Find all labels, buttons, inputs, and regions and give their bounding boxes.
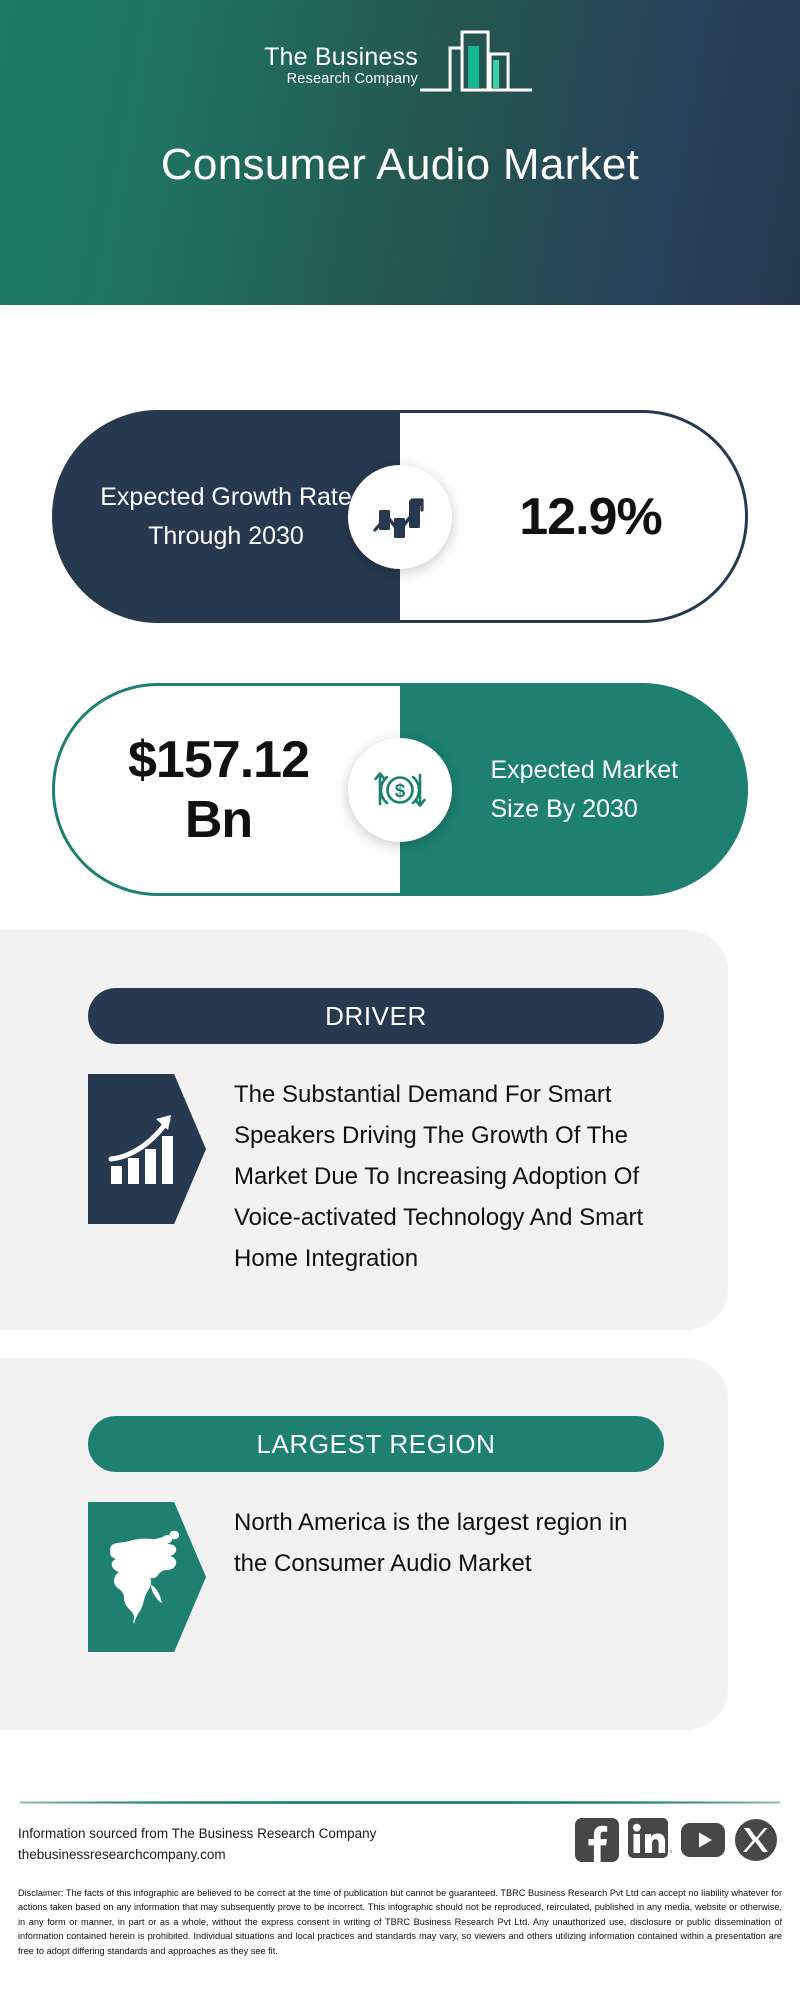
company-logo: The Business Research Company xyxy=(264,26,536,98)
logo-line-2: Research Company xyxy=(264,71,418,88)
driver-panel-body: The Substantial Demand For Smart Speaker… xyxy=(88,1074,644,1279)
stat-card-growth-rate-value-panel: 12.9% xyxy=(400,410,748,623)
footer-website-link[interactable]: thebusinessresearchcompany.com xyxy=(18,1844,376,1865)
youtube-icon[interactable] xyxy=(681,1818,725,1862)
rising-bar-chart-icon xyxy=(108,1111,186,1187)
largest-region-panel: LARGEST REGION North America is the larg… xyxy=(0,1358,728,1730)
north-america-map-icon xyxy=(105,1523,189,1631)
stat-card-market-size-value: $157.12 Bn xyxy=(104,730,334,850)
logo-line-1: The Business xyxy=(264,44,418,71)
driver-pill: DRIVER xyxy=(88,988,664,1044)
footer-source: Information sourced from The Business Re… xyxy=(18,1823,376,1865)
largest-region-panel-body: North America is the largest region in t… xyxy=(88,1502,664,1652)
bar-chart-logo-icon xyxy=(416,26,536,98)
svg-text:™: ™ xyxy=(669,1850,673,1857)
stat-card-growth-rate-value: 12.9% xyxy=(519,487,661,547)
social-links: ™ xyxy=(575,1818,778,1862)
page-header: The Business Research Company Consumer A… xyxy=(0,0,800,305)
page-title: Consumer Audio Market xyxy=(0,140,800,190)
stat-card-growth-rate-label: Expected Growth Rate Through 2030 xyxy=(96,478,356,556)
facebook-icon[interactable] xyxy=(575,1818,619,1862)
stat-card-market-size-badge: $ xyxy=(348,738,452,842)
largest-region-text: North America is the largest region in t… xyxy=(234,1502,664,1584)
x-twitter-icon[interactable] xyxy=(734,1818,778,1862)
logo-wordmark: The Business Research Company xyxy=(264,44,418,98)
stat-card-market-size-label-panel: Expected Market Size By 2030 xyxy=(400,683,748,896)
stat-card-market-size-label: Expected Market Size By 2030 xyxy=(491,751,706,829)
stat-card-market-size: $157.12 Bn Expected Market Size By 2030 … xyxy=(52,683,748,896)
largest-region-pill: LARGEST REGION xyxy=(88,1416,664,1472)
footer-disclaimer: Disclaimer: The facts of this infographi… xyxy=(18,1886,782,1958)
growth-chart-arrow-icon xyxy=(369,486,431,548)
linkedin-icon[interactable]: ™ xyxy=(628,1818,672,1862)
largest-region-icon-shape xyxy=(88,1502,206,1652)
driver-panel: DRIVER The Substantial Demand For Smart … xyxy=(0,930,728,1330)
stat-card-growth-rate: Expected Growth Rate Through 2030 12.9% xyxy=(52,410,748,623)
footer-divider xyxy=(20,1801,780,1804)
driver-text: The Substantial Demand For Smart Speaker… xyxy=(234,1074,644,1279)
footer-source-line-1: Information sourced from The Business Re… xyxy=(18,1823,376,1844)
dollar-cycle-icon: $ xyxy=(368,758,432,822)
svg-text:$: $ xyxy=(395,781,406,802)
stat-card-growth-rate-badge xyxy=(348,465,452,569)
driver-icon-shape xyxy=(88,1074,206,1224)
